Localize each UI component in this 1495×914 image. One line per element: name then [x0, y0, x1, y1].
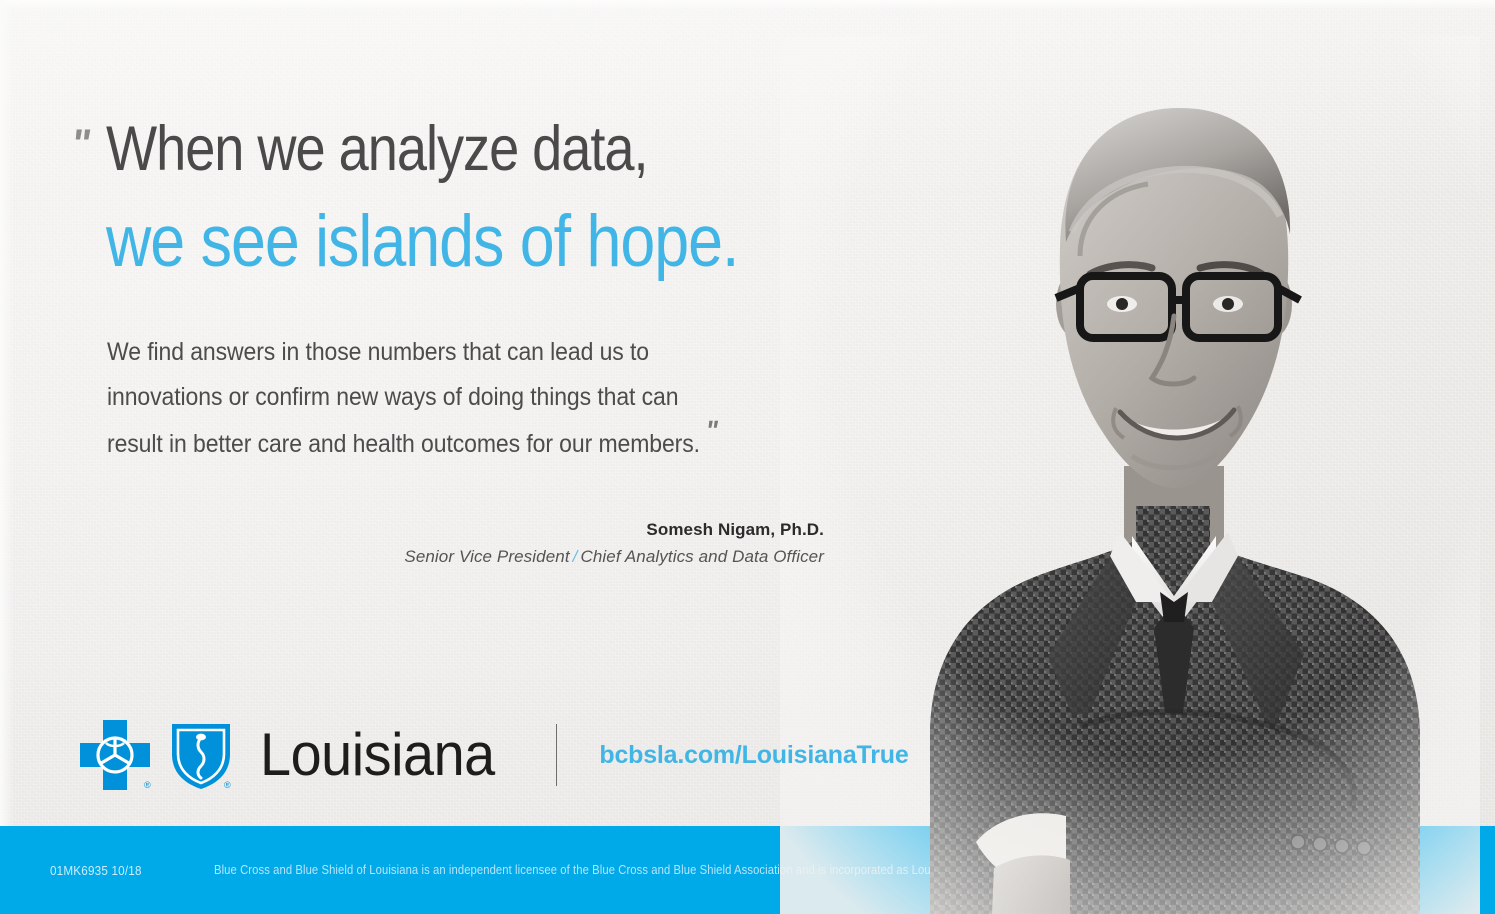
body-copy: We find answers in those numbers that ca…	[107, 330, 867, 467]
background-top-edge	[0, 0, 1495, 10]
headline-line-2: we see islands of hope.	[106, 205, 738, 278]
brand-divider	[556, 724, 557, 786]
attribution-separator: /	[570, 547, 581, 566]
body-line-3-wrapper: result in better care and health outcome…	[107, 420, 806, 467]
attribution-title-right: Chief Analytics and Data Officer	[580, 547, 824, 566]
headline-block: " When we analyze data, we see islands o…	[72, 118, 841, 278]
open-quote-mark: "	[69, 124, 92, 164]
advertisement-canvas: " When we analyze data, we see islands o…	[0, 0, 1495, 914]
brand-wordmark: Louisiana	[260, 725, 495, 785]
footer-job-code: 01MK6935 10/18	[50, 863, 142, 878]
blue-shield-icon: ®	[164, 718, 238, 792]
body-line-1: We find answers in those numbers that ca…	[107, 330, 806, 375]
body-line-3: result in better care and health outcome…	[107, 430, 700, 458]
background-left-edge	[0, 0, 14, 914]
attribution-title-left: Senior Vice President	[404, 547, 569, 566]
attribution-block: Somesh Nigam, Ph.D. Senior Vice Presiden…	[300, 520, 824, 568]
headline-line-1: When we analyze data,	[106, 118, 738, 181]
attribution-name: Somesh Nigam, Ph.D.	[300, 520, 824, 540]
blue-shield-registered: ®	[224, 780, 231, 790]
blue-cross-icon: ®	[78, 718, 152, 792]
attribution-title: Senior Vice President/Chief Analytics an…	[300, 547, 824, 567]
brand-url[interactable]: bcbsla.com/LouisianaTrue	[599, 741, 908, 770]
blue-cross-registered: ®	[144, 780, 151, 790]
brand-row: ® ® Louisiana bcbsla.com/LouisianaTrue	[78, 718, 909, 792]
body-line-2: innovations or confirm new ways of doing…	[107, 375, 806, 420]
